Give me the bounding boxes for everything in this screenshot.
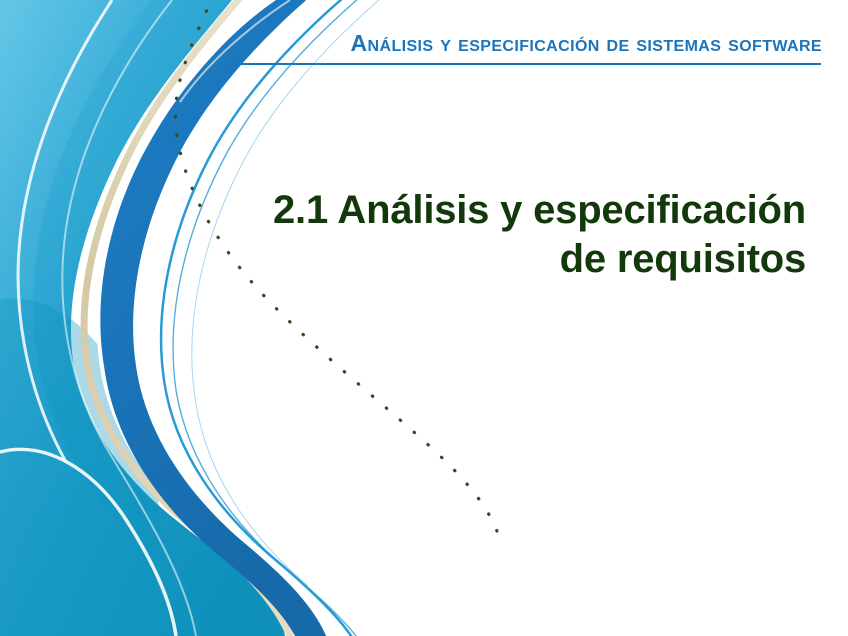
- slide-title-line-1: 2.1 Análisis y especificación: [205, 186, 806, 235]
- wave-graphic: [0, 0, 848, 636]
- header-underline: [227, 63, 821, 65]
- slide-header-text: Análisis y especificación de sistemas so…: [226, 30, 822, 56]
- slide-title: 2.1 Análisis y especificación de requisi…: [205, 186, 806, 284]
- teal-body-shape: [0, 0, 285, 636]
- teal-inner-white-curve-3: [62, 0, 196, 636]
- blue-thin-line-1: [161, 0, 356, 636]
- slide-title-line-2: de requisitos: [205, 235, 806, 284]
- tan-accent-line: [84, 0, 290, 636]
- white-gap-band: [104, 0, 310, 636]
- teal-inner-white-curve-2: [0, 449, 176, 636]
- presentation-slide: Análisis y especificación de sistemas so…: [0, 0, 848, 636]
- teal-shadow-shape: [0, 298, 160, 636]
- blue-hairline: [192, 0, 388, 586]
- teal-inner-white-curve-1: [18, 0, 112, 462]
- blue-thin-line-2: [173, 0, 366, 636]
- teal-highlight-shape: [0, 0, 206, 636]
- blue-ribbon-shape: [100, 0, 330, 636]
